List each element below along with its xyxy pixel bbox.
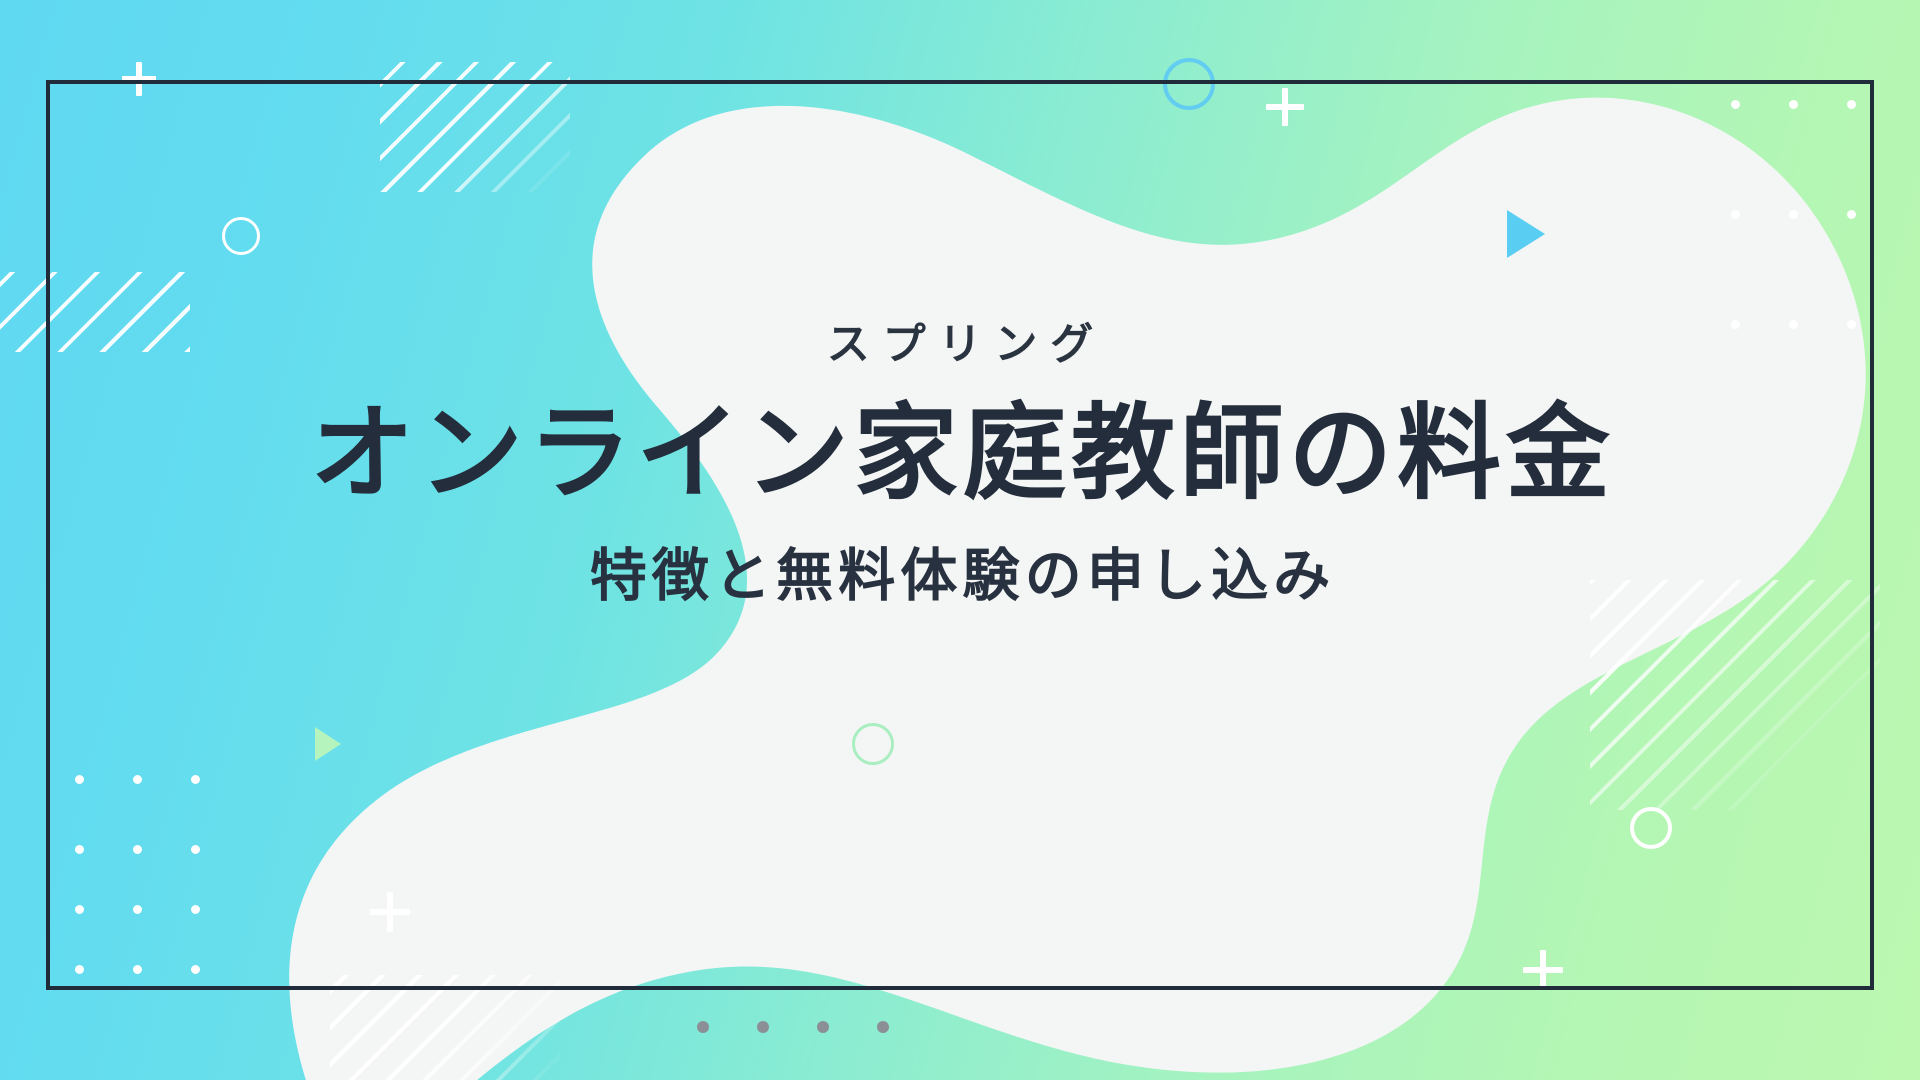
banner-headline: オンライン家庭教師の料金 (0, 394, 1920, 515)
banner-subline: 特徴と無料体験の申し込み (0, 542, 1920, 610)
banner-eyebrow: スプリング (0, 320, 1920, 372)
banner-canvas: スプリング オンライン家庭教師の料金 特徴と無料体験の申し込み (0, 0, 1920, 1080)
banner-text-block: スプリング オンライン家庭教師の料金 特徴と無料体験の申し込み (0, 320, 1920, 611)
diagonal-hatch-bottom-left (330, 975, 560, 1080)
